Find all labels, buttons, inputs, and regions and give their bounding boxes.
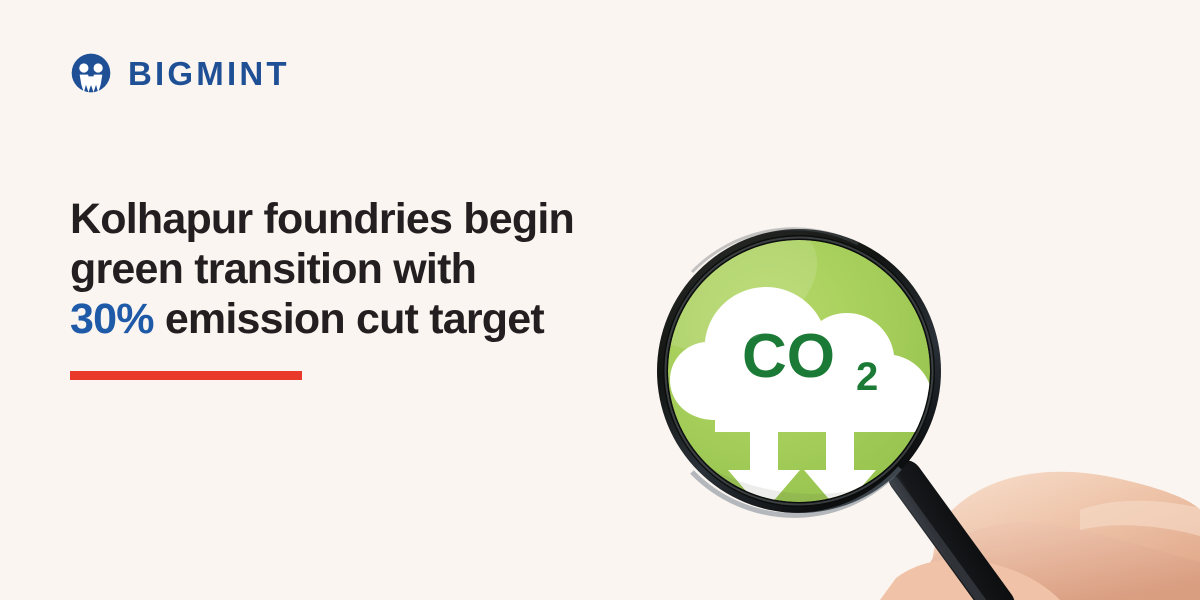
headline-accent-percentage: 30% bbox=[70, 295, 154, 343]
brand-logo[interactable]: BIGMINT bbox=[70, 52, 290, 94]
svg-text:2: 2 bbox=[856, 355, 878, 399]
social-card-canvas: BIGMINT Kolhapur foundries begin green t… bbox=[0, 0, 1200, 600]
brand-wordmark: BIGMINT bbox=[128, 57, 290, 90]
headline-line-3-rest: emission cut target bbox=[154, 295, 544, 343]
magnifying-glass-over-co2-emission-icon: CO 2 bbox=[600, 180, 1200, 600]
headline-line-1: Kolhapur foundries begin bbox=[70, 194, 690, 244]
headline-line-2: green transition with bbox=[70, 244, 690, 294]
bigmint-people-m-logo-icon bbox=[70, 52, 112, 94]
headline-line-3: 30% emission cut target bbox=[70, 294, 690, 344]
headline-underline-rule bbox=[70, 371, 302, 380]
page-title: Kolhapur foundries begin green transitio… bbox=[70, 194, 690, 344]
